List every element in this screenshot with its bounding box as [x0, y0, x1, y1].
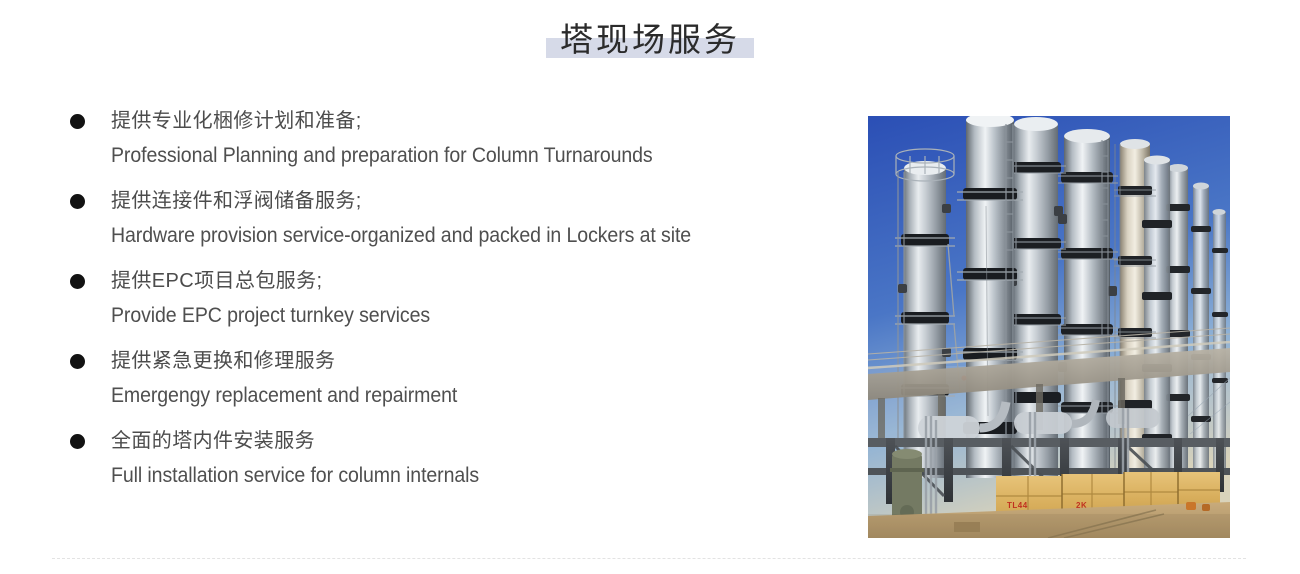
list-item-label-en: Full installation service for column int…	[111, 459, 796, 493]
list-item-label-cn: 提供紧急更换和修理服务	[111, 344, 848, 379]
list-item-label-en: Emergengy replacement and repairment	[111, 379, 796, 413]
page-title: 塔现场服务	[0, 18, 1300, 78]
bullet-dot-icon	[70, 114, 85, 129]
list-item-label-cn: 提供连接件和浮阀储备服务;	[111, 184, 848, 219]
list-item-label-cn: 全面的塔内件安装服务	[111, 424, 848, 459]
bullet-dot-icon	[70, 274, 85, 289]
list-item-label-en: Hardware provision service-organized and…	[111, 219, 796, 253]
list-item: 全面的塔内件安装服务 Full installation service for…	[68, 424, 848, 493]
list-item-label-en: Professional Planning and preparation fo…	[111, 139, 796, 173]
bullet-dot-icon	[70, 354, 85, 369]
list-item: 提供连接件和浮阀储备服务; Hardware provision service…	[68, 184, 848, 253]
page-title-text: 塔现场服务	[560, 21, 740, 58]
service-list: 提供专业化梱修计划和准备; Professional Planning and …	[68, 104, 848, 504]
distillation-column-photo: TL44 2K	[868, 116, 1230, 538]
bottom-divider	[52, 558, 1246, 560]
list-item: 提供专业化梱修计划和准备; Professional Planning and …	[68, 104, 848, 173]
bullet-dot-icon	[70, 434, 85, 449]
bullet-dot-icon	[70, 194, 85, 209]
list-item-label-en: Provide EPC project turnkey services	[111, 299, 796, 333]
list-item: 提供EPC项目总包服务; Provide EPC project turnkey…	[68, 264, 848, 333]
list-item-label-cn: 提供EPC项目总包服务;	[111, 264, 848, 299]
crate-marking-text: TL44	[1007, 501, 1028, 510]
list-item: 提供紧急更换和修理服务 Emergengy replacement and re…	[68, 344, 848, 413]
list-item-label-cn: 提供专业化梱修计划和准备;	[111, 104, 848, 139]
